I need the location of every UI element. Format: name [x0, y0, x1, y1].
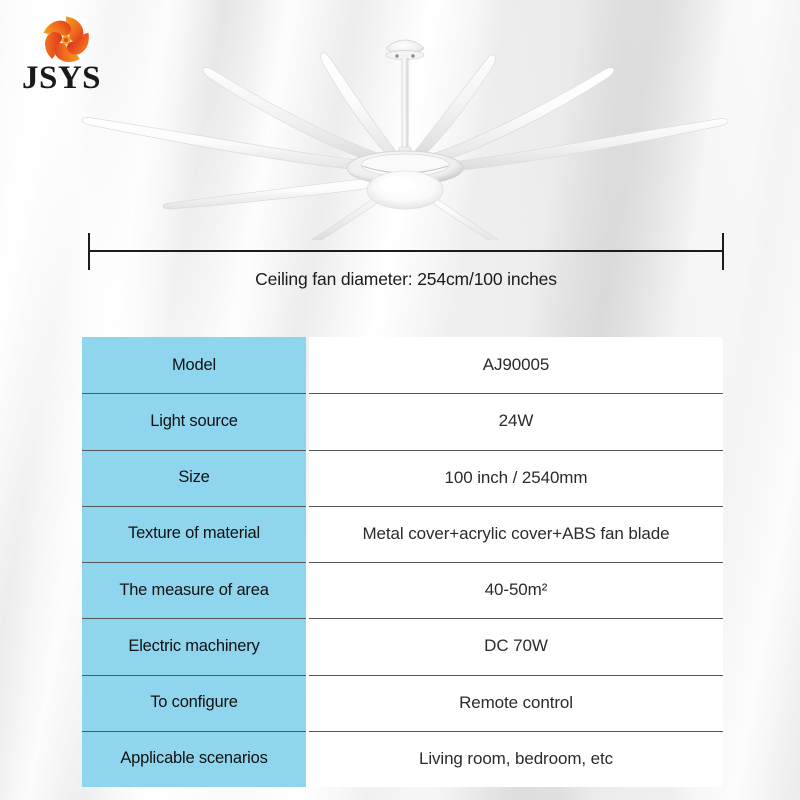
ceiling-fan-illustration	[0, 0, 800, 240]
dimension-cap-right	[722, 233, 724, 270]
dimension-caption: Ceiling fan diameter: 254cm/100 inches	[88, 269, 724, 290]
table-row: The measure of area 40-50m²	[82, 562, 723, 618]
table-row: To configure Remote control	[82, 675, 723, 731]
table-row: Electric machinery DC 70W	[82, 618, 723, 674]
spec-label-measure-of-area: The measure of area	[82, 562, 306, 618]
specification-table: Model AJ90005 Light source 24W Size 100 …	[82, 337, 723, 787]
spec-label-light-source: Light source	[82, 393, 306, 449]
table-row: Applicable scenarios Living room, bedroo…	[82, 731, 723, 787]
spec-value-model: AJ90005	[309, 337, 723, 393]
spec-value-electric-machinery: DC 70W	[309, 618, 723, 674]
spec-value-to-configure: Remote control	[309, 675, 723, 731]
dimension-bar	[88, 250, 724, 252]
spec-value-texture-of-material: Metal cover+acrylic cover+ABS fan blade	[309, 506, 723, 562]
spec-label-size: Size	[82, 450, 306, 506]
spec-label-applicable-scenarios: Applicable scenarios	[82, 731, 306, 787]
spec-label-electric-machinery: Electric machinery	[82, 618, 306, 674]
spec-value-applicable-scenarios: Living room, bedroom, etc	[309, 731, 723, 787]
spec-value-light-source: 24W	[309, 393, 723, 449]
table-row: Model AJ90005	[82, 337, 723, 393]
spec-value-size: 100 inch / 2540mm	[309, 450, 723, 506]
table-row: Light source 24W	[82, 393, 723, 449]
table-row: Texture of material Metal cover+acrylic …	[82, 506, 723, 562]
product-spec-page: JSYS	[0, 0, 800, 800]
dimension-cap-left	[88, 233, 90, 270]
table-row: Size 100 inch / 2540mm	[82, 450, 723, 506]
spec-label-texture-of-material: Texture of material	[82, 506, 306, 562]
spec-value-measure-of-area: 40-50m²	[309, 562, 723, 618]
dimension-line	[88, 233, 724, 273]
spec-label-model: Model	[82, 337, 306, 393]
spec-label-to-configure: To configure	[82, 675, 306, 731]
